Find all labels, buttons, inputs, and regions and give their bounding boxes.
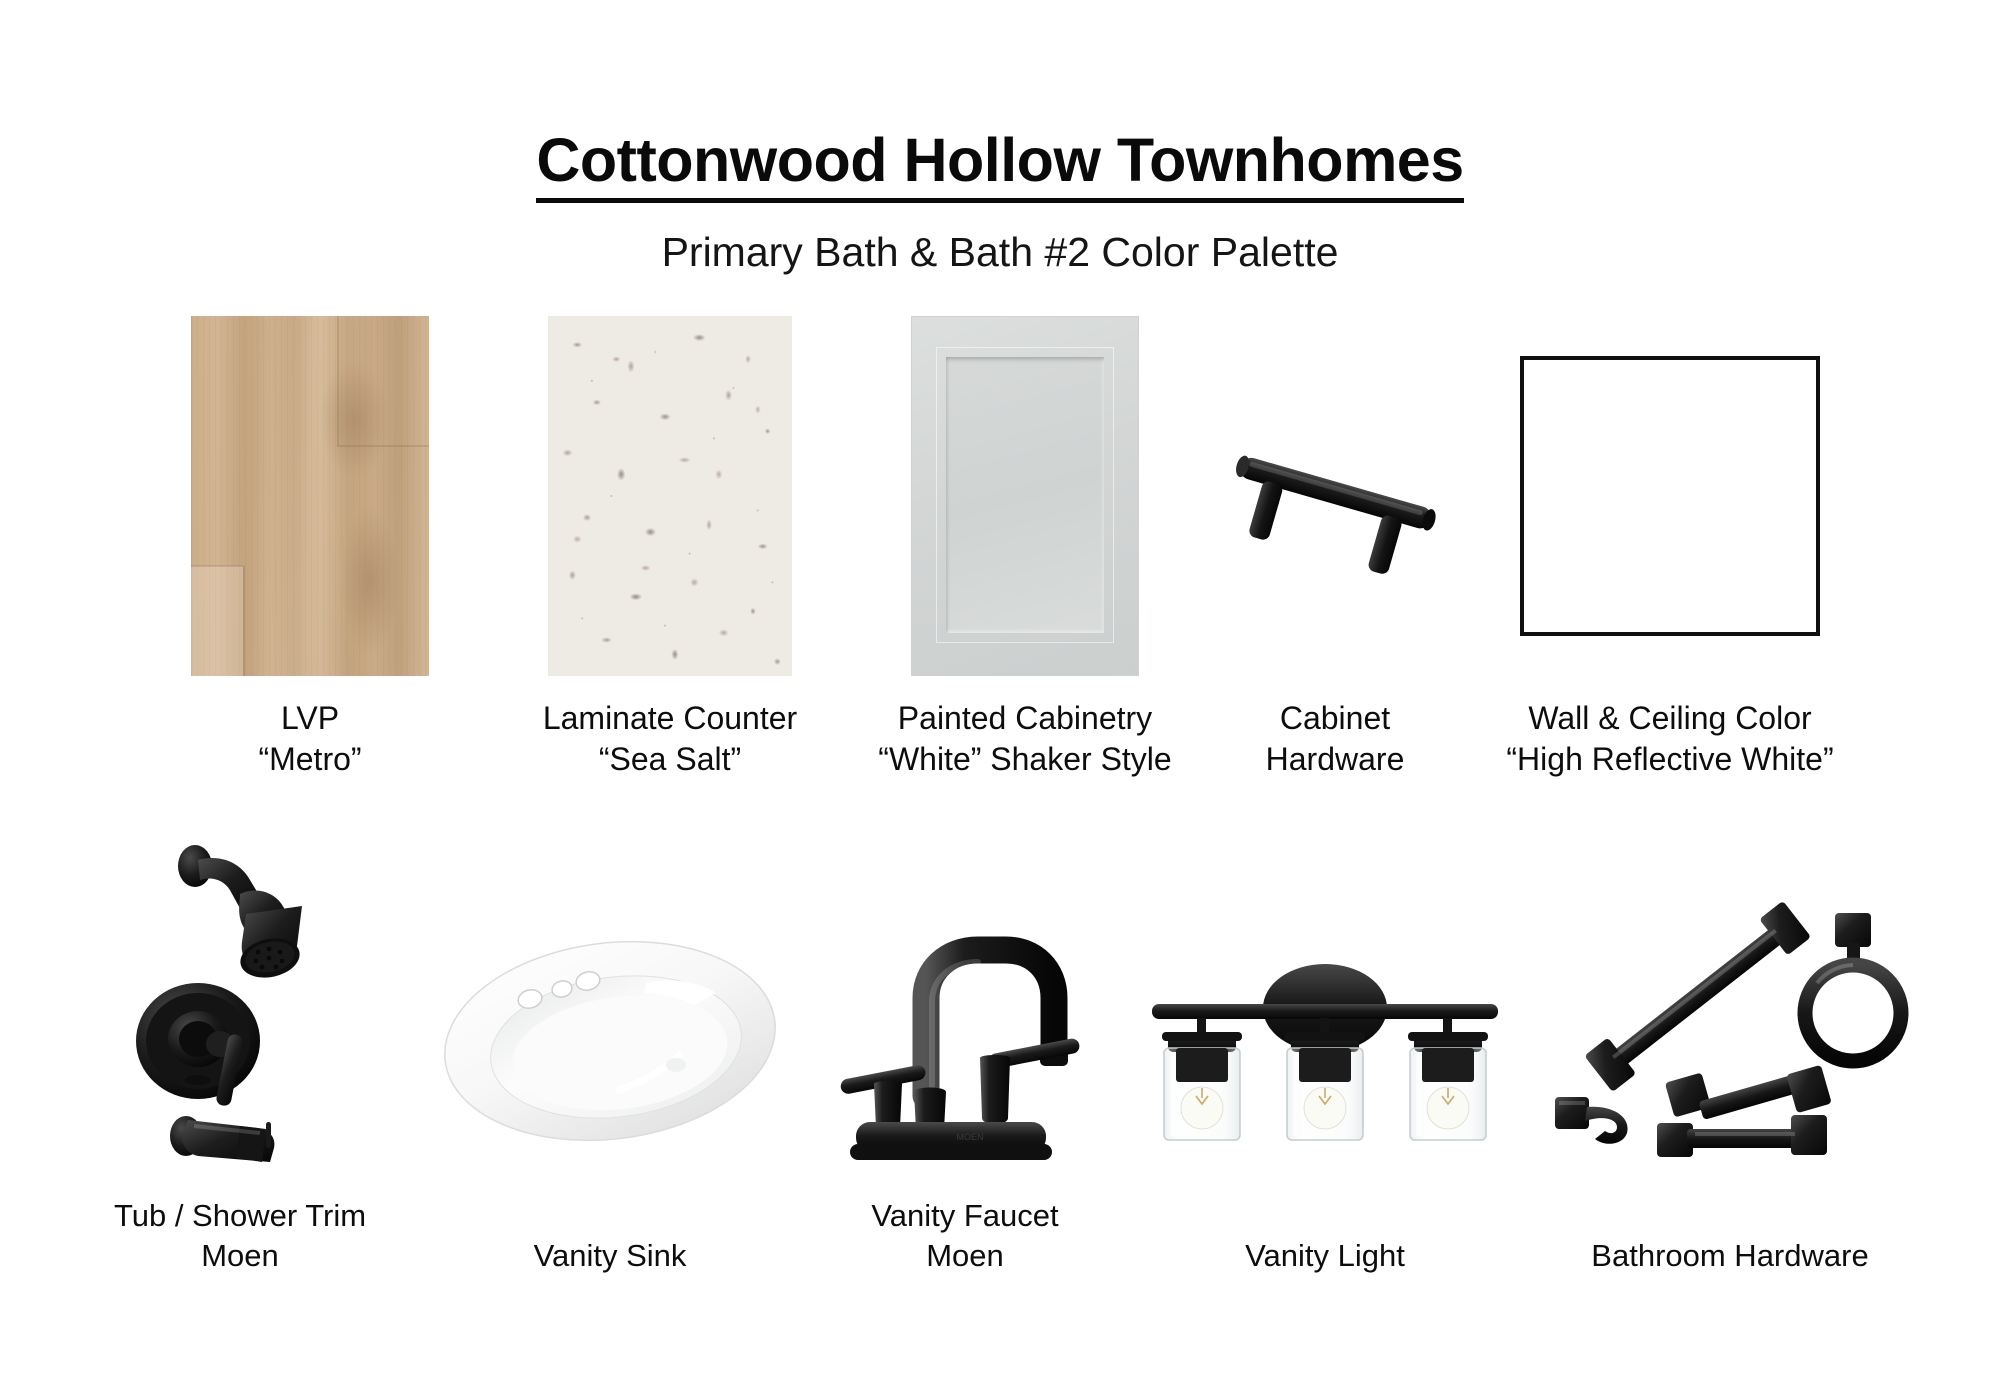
towel-bar-ring-hook-set-icon bbox=[1535, 891, 1925, 1191]
page-subtitle: Primary Bath & Bath #2 Color Palette bbox=[0, 229, 2000, 276]
palette-item-caption: Cabinet Hardware bbox=[1266, 698, 1405, 780]
bar-pull-art bbox=[1220, 316, 1450, 676]
palette-item-lvp[interactable]: LVP “Metro” bbox=[130, 316, 490, 780]
caption-line-1: Laminate Counter bbox=[543, 700, 797, 736]
three-light-vanity-bar-icon bbox=[1140, 936, 1510, 1146]
tub-spout bbox=[170, 1116, 274, 1162]
plank-seam bbox=[337, 316, 339, 446]
plank-seam bbox=[191, 565, 243, 567]
palette-item-caption: Laminate Counter “Sea Salt” bbox=[543, 698, 797, 780]
caption-line-1: Painted Cabinetry bbox=[898, 700, 1152, 736]
laminate-swatch-art bbox=[548, 316, 792, 676]
showerhead bbox=[178, 845, 303, 983]
palette-item-caption: Vanity Faucet Moen bbox=[871, 1196, 1058, 1275]
centerset-faucet-icon: MOEN bbox=[820, 906, 1110, 1166]
palette-item-painted-cabinetry[interactable]: Painted Cabinetry “White” Shaker Style bbox=[850, 316, 1200, 780]
wood-plank-light bbox=[191, 566, 243, 676]
vanity-sink-art bbox=[440, 876, 780, 1206]
bar-pull-handle-icon bbox=[1220, 396, 1450, 596]
palette-item-tub-shower-trim[interactable]: Tub / Shower Trim Moen bbox=[60, 836, 420, 1275]
plank-seam bbox=[243, 566, 245, 676]
palette-item-vanity-faucet[interactable]: MOEN Vanity Faucet Moen bbox=[800, 906, 1130, 1275]
board-header: Cottonwood Hollow Townhomes Primary Bath… bbox=[0, 0, 2000, 276]
wood-knot bbox=[319, 360, 389, 480]
caption-line-1: Wall & Ceiling Color bbox=[1528, 700, 1811, 736]
palette-item-caption: LVP “Metro” bbox=[258, 698, 361, 780]
caption-line-2: “White” Shaker Style bbox=[878, 739, 1171, 780]
wood-plank-swatch-icon bbox=[191, 316, 429, 676]
caption-line-2: “Metro” bbox=[258, 739, 361, 780]
towel-bar bbox=[1584, 900, 1811, 1091]
toilet-paper-holder bbox=[1657, 1064, 1832, 1156]
vanity-faucet-art: MOEN bbox=[820, 906, 1110, 1166]
light-head-2 bbox=[1285, 1032, 1365, 1140]
caption-line-1: Bathroom Hardware bbox=[1591, 1238, 1868, 1273]
bathroom-hardware-art bbox=[1535, 876, 1925, 1206]
palette-item-wall-ceiling-color[interactable]: Wall & Ceiling Color “High Reflective Wh… bbox=[1470, 316, 1870, 780]
page-title: Cottonwood Hollow Townhomes bbox=[536, 128, 1463, 203]
plank-seam bbox=[337, 445, 429, 447]
valve-trim bbox=[136, 983, 260, 1107]
lvp-swatch-art bbox=[191, 316, 429, 676]
palette-item-caption: Vanity Sink bbox=[534, 1236, 687, 1276]
palette-item-caption: Bathroom Hardware bbox=[1591, 1236, 1868, 1276]
drop-in-oval-sink-icon bbox=[440, 931, 780, 1151]
cabinet-door-art bbox=[911, 316, 1139, 676]
towel-ring bbox=[1805, 913, 1901, 1061]
shower-trim-art bbox=[90, 836, 390, 1166]
caption-line-2: Moen bbox=[114, 1236, 366, 1276]
palette-item-caption: Painted Cabinetry “White” Shaker Style bbox=[878, 698, 1171, 780]
caption-line-2: “Sea Salt” bbox=[543, 739, 797, 780]
palette-item-caption: Wall & Ceiling Color “High Reflective Wh… bbox=[1506, 698, 1833, 780]
shaker-cabinet-door-icon bbox=[911, 316, 1139, 676]
light-head-1 bbox=[1162, 1032, 1242, 1140]
caption-line-2: Hardware bbox=[1266, 739, 1405, 780]
palette-item-vanity-sink[interactable]: Vanity Sink bbox=[420, 876, 800, 1276]
wall-color-art bbox=[1520, 316, 1820, 676]
light-cross-bar bbox=[1152, 1004, 1498, 1019]
palette-item-caption: Vanity Light bbox=[1245, 1236, 1405, 1276]
fixtures-row: Tub / Shower Trim Moen bbox=[0, 836, 2000, 1275]
palette-item-laminate-counter[interactable]: Laminate Counter “Sea Salt” bbox=[490, 316, 850, 780]
caption-line-1: Vanity Light bbox=[1245, 1238, 1405, 1273]
caption-line-1: Vanity Faucet bbox=[871, 1198, 1058, 1233]
materials-row: LVP “Metro” Laminate Counter “Sea Salt” … bbox=[0, 316, 2000, 780]
palette-item-bathroom-hardware[interactable]: Bathroom Hardware bbox=[1520, 876, 1940, 1276]
faucet-brand-mark: MOEN bbox=[957, 1132, 984, 1142]
caption-line-1: Vanity Sink bbox=[534, 1238, 687, 1273]
caption-line-1: Cabinet bbox=[1280, 700, 1390, 736]
palette-item-cabinet-hardware[interactable]: Cabinet Hardware bbox=[1200, 316, 1470, 780]
wood-knot bbox=[341, 506, 399, 656]
vanity-light-art bbox=[1140, 876, 1510, 1206]
palette-item-caption: Tub / Shower Trim Moen bbox=[114, 1196, 366, 1275]
caption-line-1: LVP bbox=[281, 700, 339, 736]
caption-line-2: “High Reflective White” bbox=[1506, 739, 1833, 780]
cabinet-recessed-panel bbox=[946, 357, 1104, 633]
shower-trim-set-icon bbox=[90, 836, 390, 1166]
caption-line-2: Moen bbox=[871, 1236, 1058, 1276]
light-head-3 bbox=[1408, 1032, 1488, 1140]
white-paint-swatch-icon bbox=[1520, 356, 1820, 636]
caption-line-1: Tub / Shower Trim bbox=[114, 1198, 366, 1233]
palette-item-vanity-light[interactable]: Vanity Light bbox=[1130, 876, 1520, 1276]
robe-hook bbox=[1555, 1097, 1628, 1144]
stone-brown-fleck-layer bbox=[548, 316, 792, 676]
speckled-stone-swatch-icon bbox=[548, 316, 792, 676]
